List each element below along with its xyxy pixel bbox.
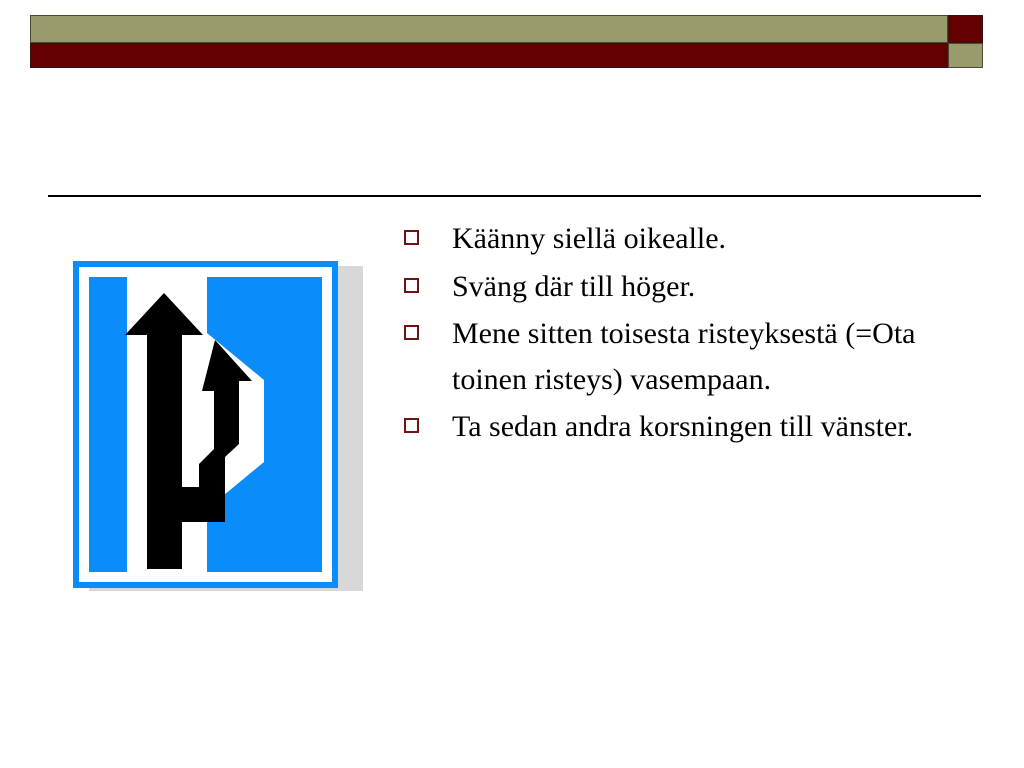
bullet-text: Sväng där till höger.: [452, 264, 979, 310]
road-sign-image: [73, 261, 363, 591]
bullet-list: Käänny siellä oikealle. Sväng där till h…: [404, 216, 979, 452]
banner-red-square: [948, 15, 983, 43]
square-bullet-icon: [404, 230, 419, 245]
list-item: Ta sedan andra korsningen till vänster.: [404, 404, 979, 450]
road-sign-white-stripe: [79, 267, 332, 582]
slide-page: { "slide": { "banner": { "olive_color": …: [0, 0, 1024, 768]
bullet-text: Mene sitten toisesta risteyksestä (=Ota …: [452, 311, 979, 402]
banner-red-bar: [30, 43, 948, 68]
list-item: Mene sitten toisesta risteyksestä (=Ota …: [404, 311, 979, 402]
banner-olive-square: [948, 43, 983, 68]
banner-olive-bar: [30, 15, 948, 43]
header-decoration-banner: [30, 15, 983, 68]
bullet-text: Käänny siellä oikealle.: [452, 216, 979, 262]
bullet-text: Ta sedan andra korsningen till vänster.: [452, 404, 979, 450]
road-sign-face: [89, 277, 322, 572]
content-divider-rule: [48, 195, 981, 197]
list-item: Käänny siellä oikealle.: [404, 216, 979, 262]
square-bullet-icon: [404, 325, 419, 340]
list-item: Sväng där till höger.: [404, 264, 979, 310]
square-bullet-icon: [404, 278, 419, 293]
road-sign-outer-border: [73, 261, 338, 588]
square-bullet-icon: [404, 418, 419, 433]
road-sign-arrows-graphic: [89, 277, 322, 572]
